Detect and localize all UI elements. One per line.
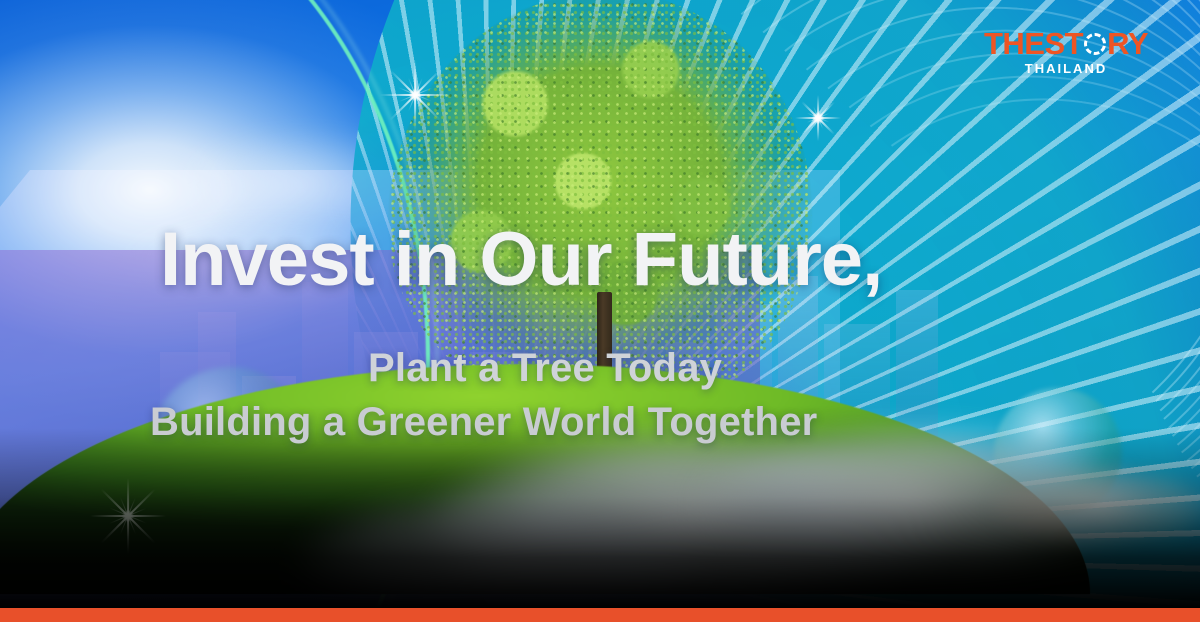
logo-country-label: THAILAND bbox=[976, 62, 1156, 75]
subtitle-line-1: Plant a Tree Today bbox=[368, 348, 722, 388]
page-title: Invest in Our Future, bbox=[160, 222, 882, 298]
logo-text-part-2: RY bbox=[1107, 28, 1148, 59]
copy-block: Invest in Our Future, Plant a Tree Today… bbox=[0, 0, 1200, 600]
banner-root: Invest in Our Future, Plant a Tree Today… bbox=[0, 0, 1200, 622]
accent-bar bbox=[0, 608, 1200, 622]
logo-wordmark: THEST RY bbox=[976, 28, 1156, 59]
subtitle-line-2: Building a Greener World Together bbox=[150, 402, 817, 442]
brand-logo[interactable]: THEST RY THAILAND bbox=[976, 28, 1156, 75]
dashed-circle-icon bbox=[1084, 33, 1106, 55]
logo-text-part-1: THEST bbox=[984, 28, 1083, 59]
